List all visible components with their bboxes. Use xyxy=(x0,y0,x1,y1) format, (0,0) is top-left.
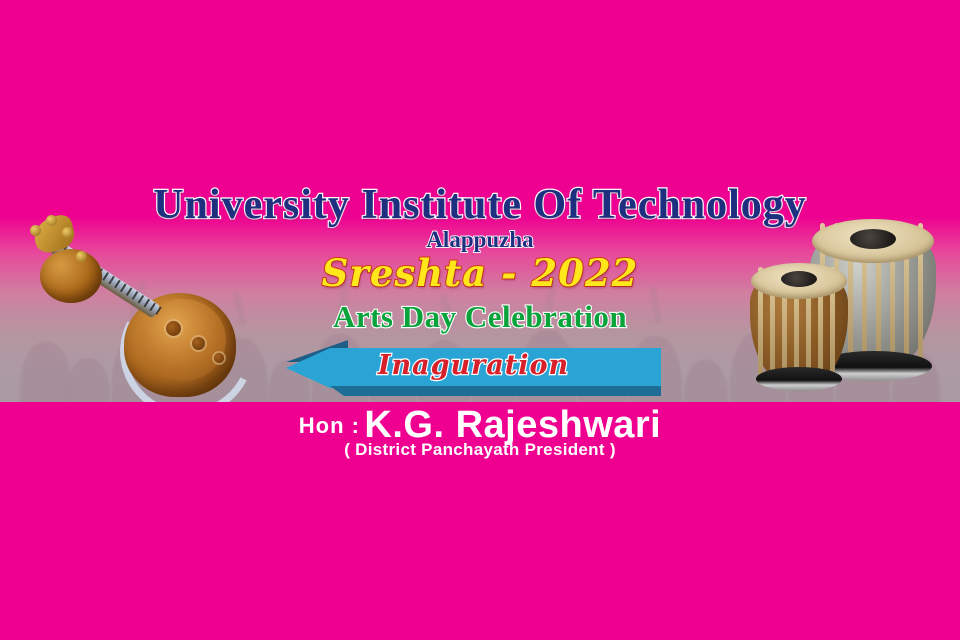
veena-rosette xyxy=(192,337,205,350)
event-title: Sreshta - 2022 xyxy=(0,251,960,295)
institution-name: University Institute Of Technology xyxy=(0,181,960,229)
event-occasion: Arts Day Celebration xyxy=(0,299,960,335)
chief-guest-designation: ( District Panchayath President ) xyxy=(0,440,960,460)
ribbon-label: Inaguration xyxy=(286,350,661,381)
veena-bridge-pin xyxy=(214,353,224,363)
dayan-ring-base xyxy=(756,367,842,391)
honorific-label: Hon : xyxy=(299,413,360,438)
institution-place: Alappuzha xyxy=(0,227,960,253)
inauguration-ribbon: Inaguration xyxy=(286,340,661,396)
poster-canvas: University Institute Of Technology Alapp… xyxy=(0,0,960,640)
ribbon-shadow xyxy=(330,386,661,396)
event-banner-image: University Institute Of Technology Alapp… xyxy=(0,175,960,402)
